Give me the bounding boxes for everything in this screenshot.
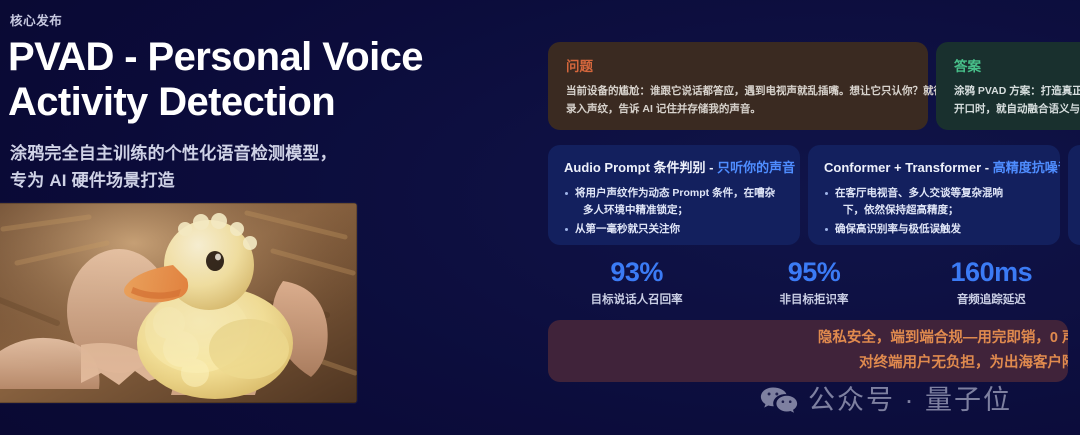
bullet-line-1: 将用户声纹作为动态 Prompt 条件，在嘈杂 bbox=[575, 187, 775, 199]
duckling-photo bbox=[0, 203, 357, 403]
stat-latency: 160ms 音频追踪延迟 bbox=[903, 258, 1080, 307]
subheadline-line-2: 专为 AI 硬件场景打造 bbox=[10, 171, 175, 190]
problem-line-2: 录入声纹，告诉 AI 记住并存储我的声音。 bbox=[566, 103, 761, 115]
subheadline-line-1: 涂鸦完全自主训练的个性化语音检测模型， bbox=[10, 144, 337, 163]
stats-row: 93% 目标说话人召回率 95% 非目标拒识率 160ms 音频追踪延迟 bbox=[548, 258, 1080, 307]
banner-line-2: 对终端用户无负担，为出海客户降合规风 bbox=[859, 351, 1068, 376]
watermark: 公众号 · 量子位 bbox=[760, 386, 1012, 414]
wechat-icon bbox=[760, 386, 798, 414]
left-panel: 核心发布 PVAD - Personal Voice Activity Dete… bbox=[8, 10, 528, 194]
stat-value: 93% bbox=[548, 258, 725, 286]
stat-value: 160ms bbox=[903, 258, 1080, 286]
bullet-line-2: 多人环境中精准锁定； bbox=[575, 202, 784, 219]
bullet-line-2: 下，依然保持超高精度； bbox=[835, 202, 1044, 219]
answer-card-body: 涂鸦 PVAD 方案：打造真正的 " 开口时，就自动融合语义与声纹 bbox=[954, 82, 1080, 119]
list-item: 在客厅电视音、多人交谈等复杂混响 下，依然保持超高精度； bbox=[824, 185, 1044, 219]
bullet-line-1: 确保高识别率与极低误触发 bbox=[835, 223, 961, 235]
headline-line-2: Activity Detection bbox=[8, 80, 335, 124]
watermark-text: 公众号 · 量子位 bbox=[808, 387, 1012, 414]
stat-rejection: 95% 非目标拒识率 bbox=[725, 258, 902, 307]
stat-recall: 93% 目标说话人召回率 bbox=[548, 258, 725, 307]
bullet-line-1: 从第一毫秒就只关注你 bbox=[575, 223, 680, 235]
list-item: 将用户声纹作为动态 Prompt 条件，在嘈杂 多人环境中精准锁定； bbox=[564, 185, 784, 219]
feature-card-title: Audio Prompt 条件判别 - 只听你的声音 bbox=[564, 157, 784, 176]
feature-card-partial-offscreen bbox=[1068, 145, 1080, 245]
slide-canvas: 核心发布 PVAD - Personal Voice Activity Dete… bbox=[0, 0, 1080, 435]
feature-title-main: Audio Prompt 条件判别 - bbox=[564, 160, 717, 175]
answer-line-1: 涂鸦 PVAD 方案：打造真正的 " bbox=[954, 85, 1080, 97]
answer-card-title: 答案 bbox=[954, 55, 1080, 75]
right-panel: 问题 当前设备的尴尬：谁跟它说话都答应，遇到电视声就乱插嘴。想让它只认你？就得提… bbox=[548, 0, 1080, 435]
feature-title-accent: 高精度抗噪音 bbox=[993, 160, 1060, 175]
privacy-banner: 隐私安全，端到端合规—用完即销，0 声纹数据 对终端用户无负担，为出海客户降合规… bbox=[548, 320, 1068, 382]
feature-card-row: Audio Prompt 条件判别 - 只听你的声音 将用户声纹作为动态 Pro… bbox=[548, 145, 1080, 245]
answer-line-2: 开口时，就自动融合语义与声纹 bbox=[954, 103, 1080, 115]
subheadline: 涂鸦完全自主训练的个性化语音检测模型， 专为 AI 硬件场景打造 bbox=[10, 141, 528, 194]
banner-line-1: 隐私安全，端到端合规—用完即销，0 声纹数据 bbox=[818, 326, 1068, 351]
feature-card-title: Conformer + Transformer - 高精度抗噪音 bbox=[824, 157, 1044, 176]
eyebrow-label: 核心发布 bbox=[10, 10, 528, 29]
list-item: 从第一毫秒就只关注你 bbox=[564, 221, 784, 238]
list-item: 确保高识别率与极低误触发 bbox=[824, 221, 1044, 238]
feature-card-audio-prompt: Audio Prompt 条件判别 - 只听你的声音 将用户声纹作为动态 Pro… bbox=[548, 145, 800, 245]
stat-label: 非目标拒识率 bbox=[725, 291, 902, 307]
feature-title-accent: 只听你的声音 bbox=[717, 160, 795, 175]
feature-card-conformer: Conformer + Transformer - 高精度抗噪音 在客厅电视音、… bbox=[808, 145, 1060, 245]
page-title: PVAD - Personal Voice Activity Detection bbox=[8, 35, 528, 125]
feature-title-main: Conformer + Transformer - bbox=[824, 160, 993, 175]
stat-label: 音频追踪延迟 bbox=[903, 291, 1080, 307]
problem-card: 问题 当前设备的尴尬：谁跟它说话都答应，遇到电视声就乱插嘴。想让它只认你？就得提… bbox=[548, 42, 928, 130]
headline-line-1: PVAD - Personal Voice bbox=[8, 35, 423, 79]
answer-card: 答案 涂鸦 PVAD 方案：打造真正的 " 开口时，就自动融合语义与声纹 bbox=[936, 42, 1080, 130]
stat-value: 95% bbox=[725, 258, 902, 286]
problem-card-title: 问题 bbox=[566, 55, 910, 75]
qa-card-row: 问题 当前设备的尴尬：谁跟它说话都答应，遇到电视声就乱插嘴。想让它只认你？就得提… bbox=[548, 42, 1080, 130]
problem-line-1: 当前设备的尴尬：谁跟它说话都答应，遇到电视声就乱插嘴。想让它只认你？就得提前 bbox=[566, 85, 965, 97]
bullet-line-1: 在客厅电视音、多人交谈等复杂混响 bbox=[835, 187, 1003, 199]
feature-bullet-list: 在客厅电视音、多人交谈等复杂混响 下，依然保持超高精度； 确保高识别率与极低误触… bbox=[824, 185, 1044, 238]
problem-card-body: 当前设备的尴尬：谁跟它说话都答应，遇到电视声就乱插嘴。想让它只认你？就得提前 录… bbox=[566, 82, 910, 119]
stat-label: 目标说话人召回率 bbox=[548, 291, 725, 307]
feature-bullet-list: 将用户声纹作为动态 Prompt 条件，在嘈杂 多人环境中精准锁定； 从第一毫秒… bbox=[564, 185, 784, 238]
